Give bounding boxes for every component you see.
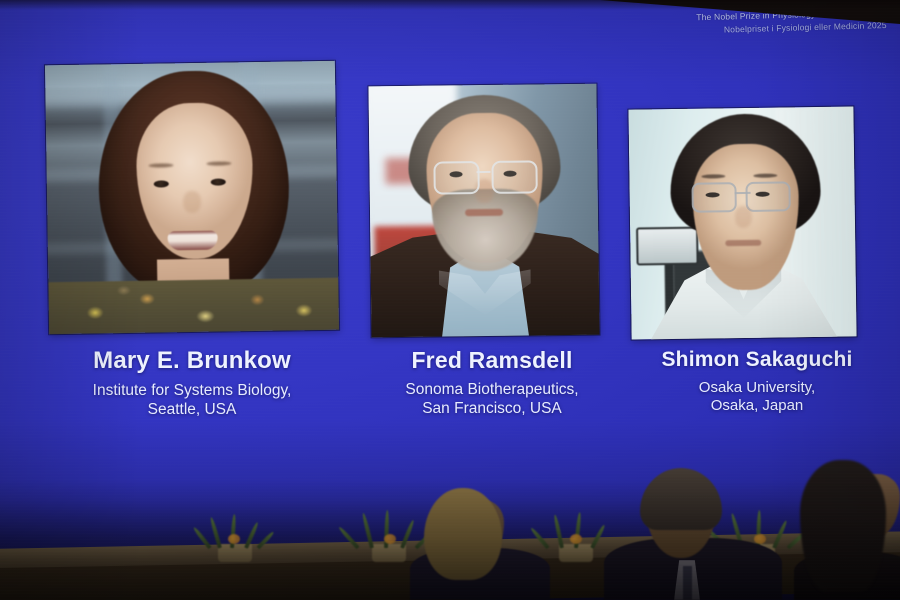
lab-equipment xyxy=(636,227,699,266)
eyeglasses-bridge xyxy=(734,192,750,194)
hair xyxy=(640,468,722,530)
screenshot-root: The Nobel Prize in Physiology or Medicin… xyxy=(0,0,900,600)
eyeglasses-lens xyxy=(691,182,736,213)
leaf xyxy=(553,514,564,548)
eyeglasses-lens xyxy=(745,181,790,212)
laureate-affiliation-line1: Osaka University, xyxy=(638,379,876,397)
nose xyxy=(734,206,751,228)
audience-member-center xyxy=(618,468,768,600)
leaf xyxy=(772,520,788,549)
flower xyxy=(228,534,240,544)
laureate-affiliation-line2: Osaka, Japan xyxy=(638,397,876,415)
portrait-mary-brunkow xyxy=(45,61,339,335)
leaf xyxy=(361,513,374,549)
audience-member-right xyxy=(800,460,900,600)
laureate-affiliation-line1: Institute for Systems Biology, xyxy=(18,382,366,401)
potted-plant xyxy=(350,508,428,548)
portrait-shimon-sakaguchi xyxy=(628,106,856,339)
mouth xyxy=(465,209,503,216)
caption-shimon-sakaguchi: Shimon Sakaguchi Osaka University, Osaka… xyxy=(638,348,876,416)
leaf xyxy=(400,519,415,548)
floral-top xyxy=(48,278,339,335)
hair xyxy=(800,460,886,592)
laureate-affiliation-line2: Seattle, USA xyxy=(18,401,366,420)
flower xyxy=(570,534,582,544)
leaf xyxy=(209,517,222,549)
audience-member-left xyxy=(418,482,538,600)
laureate-name: Fred Ramsdell xyxy=(372,348,612,373)
eyeglasses-bridge xyxy=(477,171,491,173)
mouth xyxy=(725,240,761,247)
potted-plant xyxy=(200,512,270,548)
portrait-fred-ramsdell xyxy=(368,84,599,338)
flower xyxy=(384,534,396,544)
laureate-name: Mary E. Brunkow xyxy=(18,348,366,374)
leaf xyxy=(590,524,606,549)
laureate-affiliation-line1: Sonoma Biotherapeutics, xyxy=(372,381,612,400)
laureate-affiliation-line2: San Francisco, USA xyxy=(372,400,612,419)
mouth xyxy=(168,231,218,251)
potted-plant xyxy=(540,510,612,548)
eyeglasses-lens xyxy=(491,160,537,194)
caption-mary-brunkow: Mary E. Brunkow Institute for Systems Bi… xyxy=(18,348,366,420)
eyeglasses-lens xyxy=(433,161,479,195)
necktie xyxy=(683,566,692,600)
caption-fred-ramsdell: Fred Ramsdell Sonoma Biotherapeutics, Sa… xyxy=(372,348,612,419)
hair xyxy=(424,488,502,580)
nose xyxy=(183,191,201,213)
laureate-name: Shimon Sakaguchi xyxy=(638,348,876,371)
